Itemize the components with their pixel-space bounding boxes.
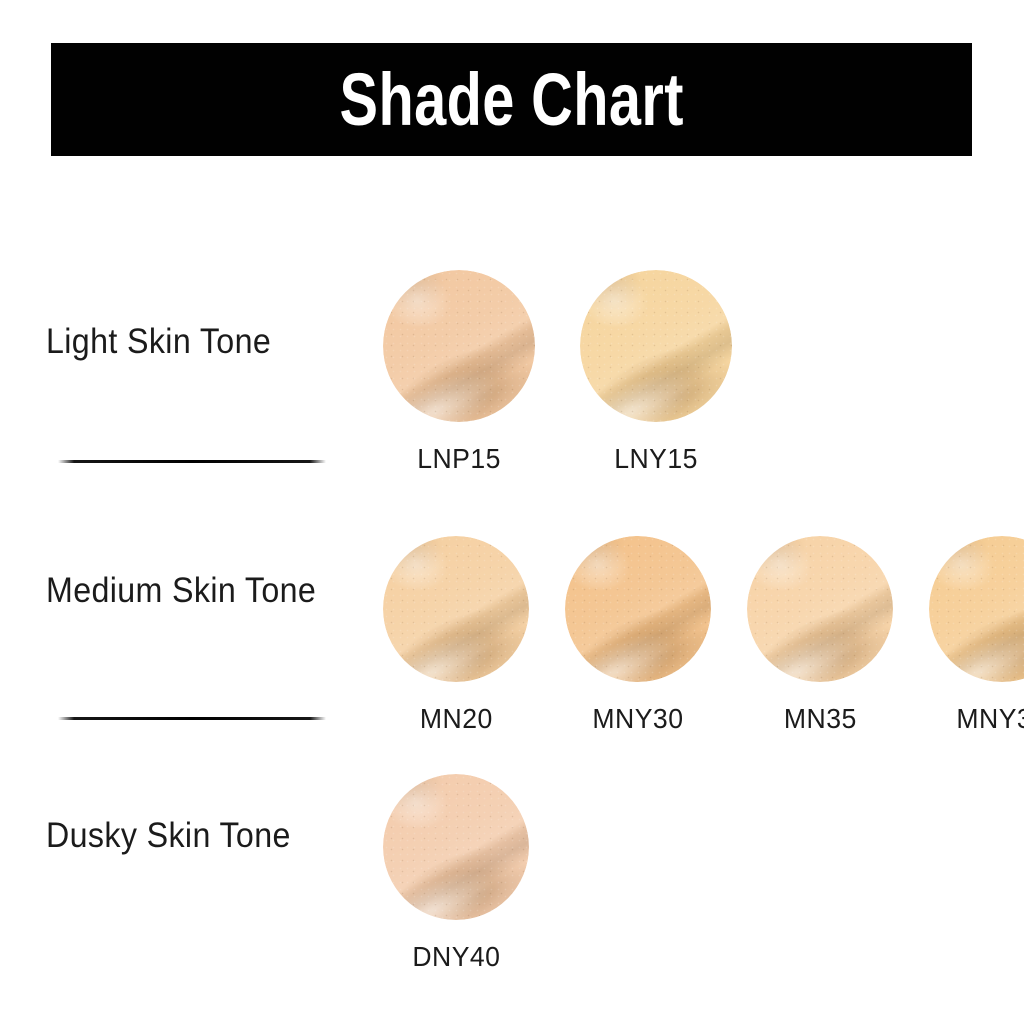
divider-medium-dusky bbox=[58, 717, 326, 720]
shade-code-label: MNY35 bbox=[956, 703, 1024, 735]
swatch-mn20[interactable]: MN20 bbox=[383, 536, 529, 735]
tone-row-medium: Medium Skin Tone MN20 bbox=[0, 528, 1024, 728]
swatch-disc-lnp15[interactable] bbox=[383, 270, 535, 422]
swatch-lnp15[interactable]: LNP15 bbox=[383, 270, 535, 475]
swatch-grain-texture bbox=[383, 536, 529, 682]
swatch-lny15[interactable]: LNY15 bbox=[580, 270, 732, 475]
shade-chart-page: Shade Chart Light Skin Tone LNP15 bbox=[0, 0, 1024, 1024]
swatch-group-medium: MN20 MNY30 bbox=[383, 536, 1024, 735]
swatch-disc-dny40[interactable] bbox=[383, 774, 529, 920]
divider-light-medium bbox=[58, 460, 326, 463]
shade-code-label: MN35 bbox=[784, 703, 857, 735]
shade-code-label: LNY15 bbox=[614, 443, 698, 475]
tone-row-dusky: Dusky Skin Tone DNY40 bbox=[0, 768, 1024, 968]
swatch-mny35[interactable]: MNY35 bbox=[929, 536, 1024, 735]
swatch-dny40[interactable]: DNY40 bbox=[383, 774, 529, 973]
shade-code-label: MN20 bbox=[420, 703, 493, 735]
swatch-grain-texture bbox=[747, 536, 893, 682]
title-banner: Shade Chart bbox=[51, 43, 972, 156]
swatch-grain-texture bbox=[565, 536, 711, 682]
tone-row-light: Light Skin Tone LNP15 bbox=[0, 262, 1024, 462]
swatch-mn35[interactable]: MN35 bbox=[747, 536, 893, 735]
shade-code-label: DNY40 bbox=[412, 941, 500, 973]
swatch-group-dusky: DNY40 bbox=[383, 774, 529, 973]
page-title: Shade Chart bbox=[339, 63, 683, 137]
swatch-disc-mny35[interactable] bbox=[929, 536, 1024, 682]
swatch-grain-texture bbox=[383, 270, 535, 422]
swatch-disc-lny15[interactable] bbox=[580, 270, 732, 422]
swatch-disc-mn20[interactable] bbox=[383, 536, 529, 682]
swatch-disc-mny30[interactable] bbox=[565, 536, 711, 682]
swatch-group-light: LNP15 LNY15 bbox=[383, 270, 732, 475]
shade-code-label: MNY30 bbox=[592, 703, 683, 735]
swatch-grain-texture bbox=[580, 270, 732, 422]
tone-label-dusky: Dusky Skin Tone bbox=[46, 816, 322, 856]
swatch-mny30[interactable]: MNY30 bbox=[565, 536, 711, 735]
tone-label-light: Light Skin Tone bbox=[46, 322, 322, 362]
swatch-disc-mn35[interactable] bbox=[747, 536, 893, 682]
tone-label-medium: Medium Skin Tone bbox=[46, 571, 322, 611]
shade-code-label: LNP15 bbox=[417, 443, 501, 475]
swatch-grain-texture bbox=[383, 774, 529, 920]
